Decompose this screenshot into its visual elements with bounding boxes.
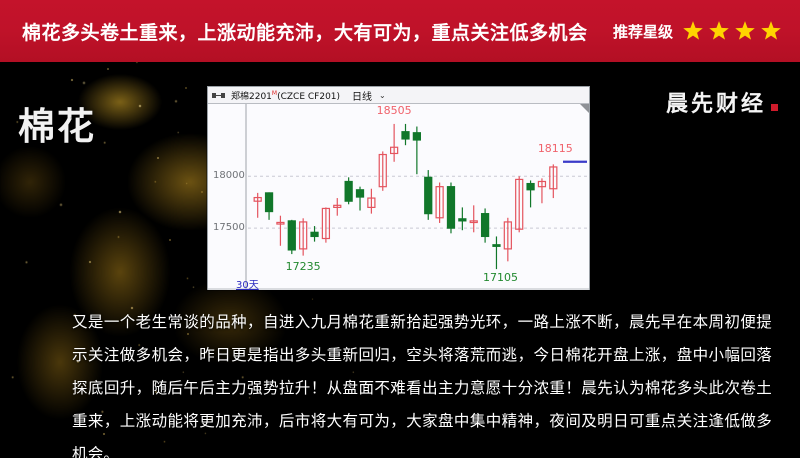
star-icon [708,20,730,42]
chart-corner-marker [580,104,589,113]
symbol-name: 郑棉2201 [231,92,272,102]
price-chart-panel[interactable]: 郑棉2201M(CZCE CF201) 日线 ⌄ 18000 17500 185… [207,86,590,290]
ma-period-label: 30天 [236,276,259,290]
annotation-low-17105: 17105 [483,271,518,284]
header-rating-group: 推荐星级 [613,20,782,42]
y-axis-label-18000: 18000 [213,170,245,181]
candle-body [402,132,409,139]
candle-body [356,190,363,197]
chart-plot-area[interactable]: 18000 17500 18505 18115 17235 17105 30天 [208,104,589,290]
period-selector-label[interactable]: 日线 [352,88,372,103]
header-banner: 棉花多头卷土重来，上涨动能充沛，大有可为，重点关注低多机会 推荐星级 [0,0,800,62]
brand-logo: 晨先财经 [666,86,778,118]
chart-toolbar[interactable]: 郑棉2201M(CZCE CF201) 日线 ⌄ [208,87,589,104]
candle-body [311,232,318,236]
brand-name: 晨先财经 [666,86,766,118]
candle-body [493,245,500,247]
star-icon [682,20,704,42]
exchange-code: (CZCE CF201) [277,92,340,102]
candlestick-series [254,124,557,269]
annotation-last-18115: 18115 [538,142,573,155]
symbol-label: 郑棉2201M(CZCE CF201) [231,89,340,102]
candle-body [345,181,352,201]
candle-body [447,187,454,228]
candle-body [288,221,295,250]
candlestick-svg [208,104,589,290]
chart-tool-icon[interactable] [212,91,225,100]
candle-body [482,214,489,237]
rating-label: 推荐星级 [613,21,673,42]
star-icon [760,20,782,42]
chevron-down-icon[interactable]: ⌄ [379,91,386,100]
candle-body [266,193,273,212]
y-axis-label-17500: 17500 [213,222,245,233]
star-rating [682,20,782,42]
annotation-low-17235: 17235 [286,260,321,273]
poster-root: 棉花多头卷土重来，上涨动能充沛，大有可为，重点关注低多机会 推荐星级 棉花 晨先… [0,0,800,458]
brand-dot-icon [771,104,778,111]
commodity-title: 棉花 [18,96,96,150]
candle-body [459,219,466,221]
candle-body [413,133,420,140]
headline-text: 棉花多头卷土重来，上涨动能充沛，大有可为，重点关注低多机会 [22,18,588,45]
article-body: 又是一个老生常谈的品种，自进入九月棉花重新拾起强势光环，一路上涨不断，晨先早在本… [72,306,772,458]
star-icon [734,20,756,42]
candle-body [425,177,432,213]
annotation-high-18505: 18505 [377,104,412,117]
candle-body [527,184,534,190]
